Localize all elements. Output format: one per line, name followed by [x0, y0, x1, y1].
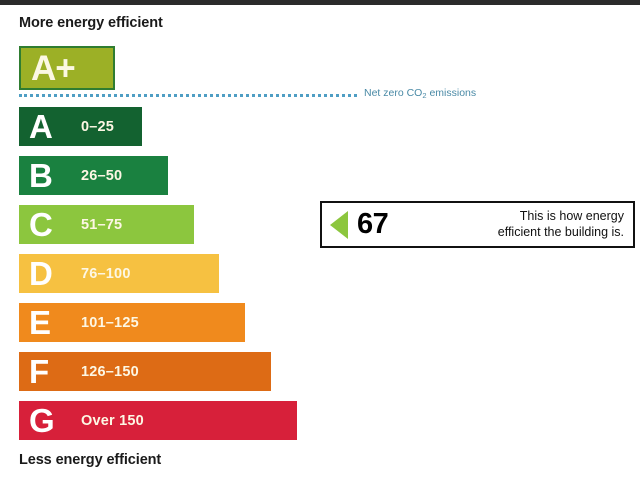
band-d: D 76–100 [19, 254, 219, 293]
band-a-plus: A+ [19, 46, 115, 90]
left-arrow-icon [330, 211, 348, 239]
net-zero-label: Net zero CO2 emissions [364, 87, 476, 99]
net-zero-dotted-line [19, 94, 357, 97]
band-a-range: 0–25 [81, 119, 114, 135]
band-a-plus-letter: A+ [31, 51, 75, 86]
more-energy-efficient-caption: More energy efficient [19, 15, 163, 31]
band-f-range: 126–150 [81, 364, 139, 380]
band-c: C 51–75 [19, 205, 194, 244]
current-rating-description-line2: efficient the building is. [498, 225, 624, 239]
band-f-letter: F [29, 355, 73, 388]
net-zero-label-subscript: 2 [422, 91, 426, 100]
band-e: E 101–125 [19, 303, 245, 342]
energy-efficiency-rating-chart: More energy efficient A+ Net zero CO2 em… [0, 0, 640, 479]
net-zero-label-prefix: Net zero CO [364, 87, 422, 99]
band-e-range: 101–125 [81, 315, 139, 331]
less-energy-efficient-caption: Less energy efficient [19, 452, 161, 468]
band-d-letter: D [29, 257, 73, 290]
band-g-letter: G [29, 404, 73, 437]
band-c-range: 51–75 [81, 217, 122, 233]
band-b: B 26–50 [19, 156, 168, 195]
net-zero-label-suffix: emissions [427, 87, 477, 99]
band-e-letter: E [29, 306, 73, 339]
current-rating-indicator: 67 This is how energy efficient the buil… [320, 201, 635, 248]
current-rating-description-line1: This is how energy [520, 209, 624, 223]
band-f: F 126–150 [19, 352, 271, 391]
band-g-range: Over 150 [81, 413, 144, 429]
current-rating-value: 67 [357, 210, 388, 239]
band-a-letter: A [29, 110, 73, 143]
current-rating-description: This is how energy efficient the buildin… [498, 209, 624, 240]
band-g: G Over 150 [19, 401, 297, 440]
top-edge-strip [0, 0, 640, 5]
band-c-letter: C [29, 208, 73, 241]
band-b-letter: B [29, 159, 73, 192]
band-d-range: 76–100 [81, 266, 131, 282]
band-a: A 0–25 [19, 107, 142, 146]
band-b-range: 26–50 [81, 168, 122, 184]
